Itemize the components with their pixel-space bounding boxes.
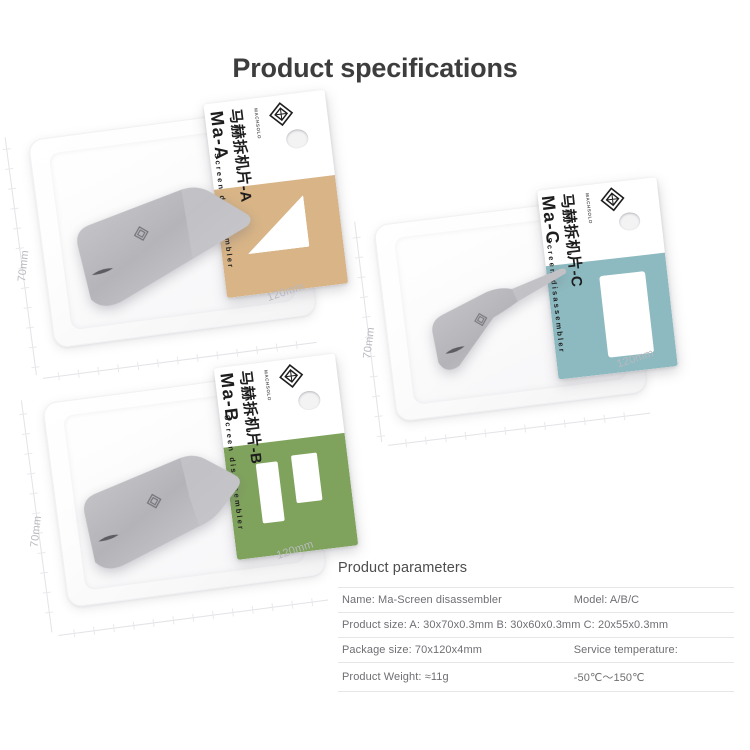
param-weight-label: Product Weight: ≈11g	[338, 663, 560, 692]
table-row: Name: Ma-Screen disassembler Model: A/B/…	[338, 588, 734, 613]
product-scene-ma-a: MACHSOLO 马赫拆机片-A Ma-A Screen disassemble…	[20, 87, 387, 359]
parameters-table: Name: Ma-Screen disassembler Model: A/B/…	[338, 587, 734, 692]
param-model-label: Model: A/B/C	[560, 588, 734, 613]
card-die-cut-ma-c	[599, 271, 654, 358]
blade-ma-c	[423, 266, 579, 377]
table-row: Package size: 70x120x4mm Service tempera…	[338, 638, 734, 663]
parameters-title: Product parameters	[338, 560, 734, 587]
param-service-temp-label: Service temperature:	[560, 638, 734, 663]
card-brand-ma-b: MACHSOLO	[263, 370, 272, 401]
blade-ma-a	[64, 178, 264, 317]
product-parameters-panel: Product parameters Name: Ma-Screen disas…	[338, 560, 734, 692]
card-brand-ma-c: MACHSOLO	[585, 193, 593, 224]
param-package-size-label: Package size: 70x120x4mm	[338, 638, 560, 663]
mach-diamond-logo	[265, 97, 299, 135]
mach-diamond-logo	[597, 183, 631, 221]
product-scene-ma-c: MACHSOLO 马赫拆机片-C Ma-C Screen disassemble…	[366, 177, 710, 429]
card-brand-ma-a: MACHSOLO	[253, 108, 262, 139]
table-row: Product size: A: 30x70x0.3mm B: 30x60x0.…	[338, 613, 734, 638]
mach-diamond-logo	[275, 359, 309, 397]
blade-ma-b	[73, 445, 262, 579]
param-product-size-label: Product size: A: 30x70x0.3mm B: 30x60x0.…	[338, 613, 734, 638]
param-name-label: Name: Ma-Screen disassembler	[338, 588, 560, 613]
param-service-temp-value: -50℃～150℃	[560, 663, 734, 692]
table-row: Product Weight: ≈11g -50℃～150℃	[338, 663, 734, 692]
